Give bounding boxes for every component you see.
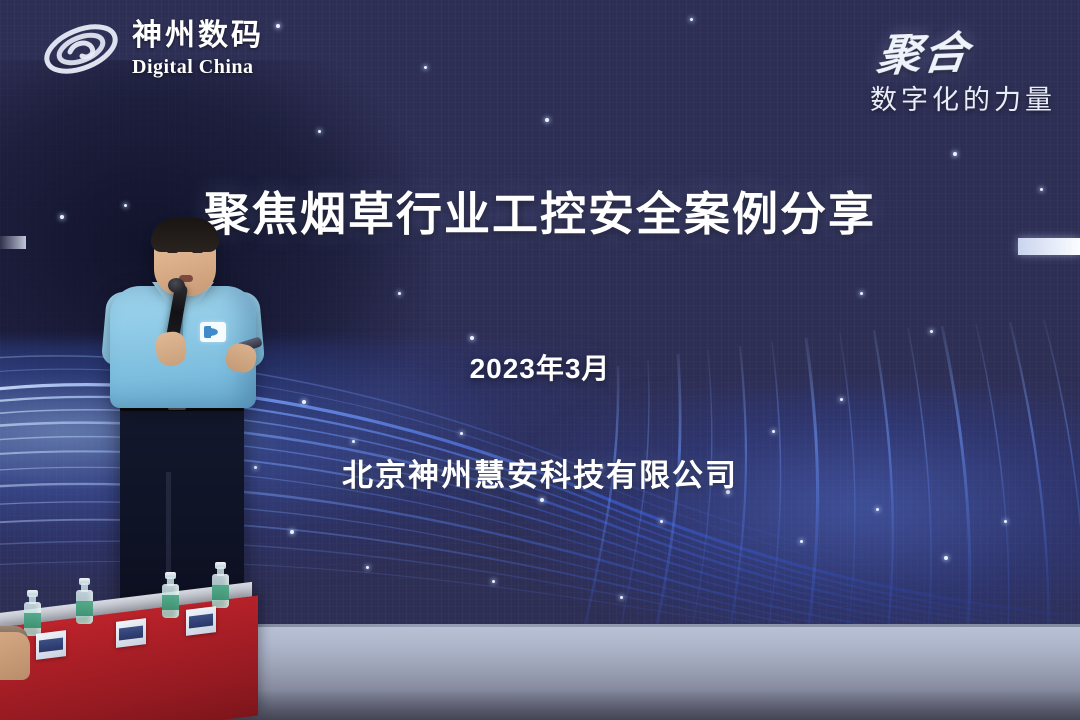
- conference-photo: 神州数码 Digital China 聚合 数字化的力量 聚焦烟草行业工控安全案…: [0, 0, 1080, 720]
- logo-text-block: 神州数码 Digital China: [132, 21, 264, 77]
- speaker-figure: [96, 222, 286, 628]
- foreground-table: [0, 590, 270, 720]
- speaker-hair: [151, 218, 219, 252]
- bottle-label: [24, 613, 41, 628]
- digital-china-logo: 神州数码 Digital China: [40, 18, 264, 80]
- event-slogan: 聚合 数字化的力量: [870, 18, 1056, 117]
- logo-chinese-name: 神州数码: [132, 21, 264, 51]
- bottle-label: [76, 601, 93, 616]
- water-bottle: [212, 562, 229, 608]
- logo-english-name: Digital China: [132, 57, 264, 77]
- speaker-eye-left: [167, 249, 178, 253]
- water-bottle: [24, 590, 41, 636]
- slogan-subtitle: 数字化的力量: [870, 78, 1056, 117]
- water-bottle: [76, 578, 93, 624]
- bottle-label: [162, 595, 179, 610]
- bottle-label: [212, 585, 229, 600]
- name-card: [186, 606, 216, 636]
- speaker-eye-right: [192, 249, 203, 253]
- name-card: [116, 618, 146, 648]
- water-bottle: [162, 572, 179, 618]
- attendee-silhouette: [0, 632, 30, 680]
- digital-china-swirl-logo-icon: [40, 18, 122, 80]
- speaker-shirt-logo-patch: [200, 322, 226, 342]
- name-card: [36, 630, 66, 660]
- slogan-brush-text: 聚合: [874, 16, 974, 83]
